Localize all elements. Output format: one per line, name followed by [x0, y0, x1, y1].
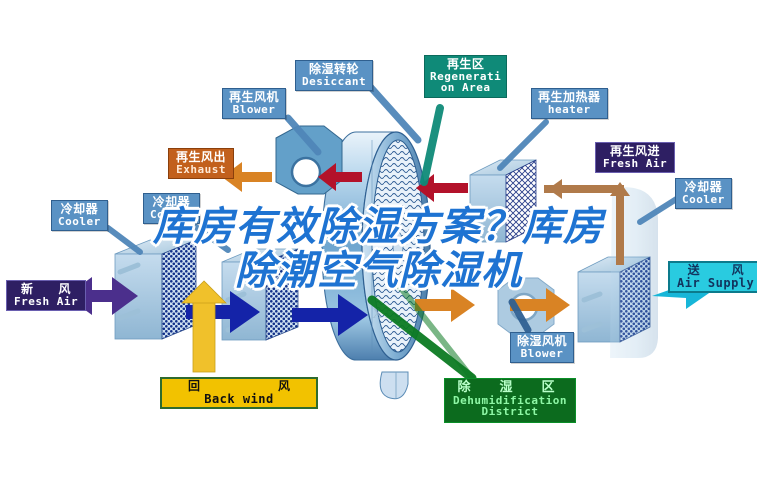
label-back-wind-cn: 回 风 [170, 380, 308, 393]
label-dehumidification-district-cn: 除 湿 区 [453, 381, 567, 395]
label-regeneration-blower-en: Blower [229, 104, 279, 116]
label-dehumidification-district-en-2: District [453, 406, 567, 418]
label-dehumidification-blower-cn: 除湿风机 [517, 335, 567, 348]
label-air-supply-en: Air Supply [677, 277, 754, 290]
label-cooler-left-b-en: Cooler [150, 209, 193, 221]
label-desiccant-wheel-en: Desiccant [302, 76, 366, 88]
label-regeneration-heater-cn: 再生加热器 [538, 91, 601, 104]
label-regeneration-blower: 再生风机 Blower [222, 88, 286, 119]
label-dehumidification-blower: 除湿风机 Blower [510, 332, 574, 363]
label-air-supply: 送 风 Air Supply [668, 261, 757, 293]
label-fresh-air-in-en: Fresh Air [14, 296, 78, 308]
label-exhaust: 再生风出 Exhaust [168, 148, 234, 179]
label-cooler-left-a-en: Cooler [58, 216, 101, 228]
label-dehumidification-blower-en: Blower [517, 348, 567, 360]
label-regeneration-blower-cn: 再生风机 [229, 91, 279, 104]
label-back-wind-en: Back wind [170, 393, 308, 406]
label-regeneration-area-cn: 再生区 [430, 58, 501, 71]
label-regeneration-fresh-air-in: 再生风进 Fresh Air [595, 142, 675, 173]
label-regeneration-heater: 再生加热器 heater [531, 88, 608, 119]
dehumidifier-schematic-svg: XT [0, 0, 757, 488]
label-regeneration-fresh-air-in-cn: 再生风进 [603, 145, 667, 158]
label-cooler-left-a-cn: 冷却器 [58, 203, 101, 216]
label-air-supply-cn: 送 风 [677, 264, 754, 277]
label-regeneration-fresh-air-in-en: Fresh Air [603, 158, 667, 170]
label-cooler-left-b: 冷却器 Cooler [143, 193, 200, 224]
label-cooler-left-b-cn: 冷却器 [150, 196, 193, 209]
label-cooler-right: 冷却器 Cooler [675, 178, 732, 209]
label-back-wind: 回 风 Back wind [160, 377, 318, 409]
label-dehumidification-district: 除 湿 区 Dehumidification District [444, 378, 576, 423]
label-cooler-right-cn: 冷却器 [682, 181, 725, 194]
regeneration-heater-unit [470, 160, 536, 242]
label-desiccant-wheel-cn: 除湿转轮 [302, 63, 366, 76]
label-exhaust-en: Exhaust [176, 164, 226, 176]
label-cooler-right-en: Cooler [682, 194, 725, 206]
label-cooler-left-a: 冷却器 Cooler [51, 200, 108, 231]
label-exhaust-cn: 再生风出 [176, 151, 226, 164]
diagram-canvas: XT [0, 0, 757, 488]
label-regeneration-area-en-2: on Area [430, 82, 501, 94]
label-desiccant-wheel: 除湿转轮 Desiccant [295, 60, 373, 91]
label-fresh-air-in-cn: 新 风 [14, 283, 78, 296]
label-fresh-air-in: 新 风 Fresh Air [6, 280, 86, 311]
label-regeneration-area: 再生区 Regenerati on Area [424, 55, 507, 98]
label-regeneration-heater-en: heater [538, 104, 601, 116]
